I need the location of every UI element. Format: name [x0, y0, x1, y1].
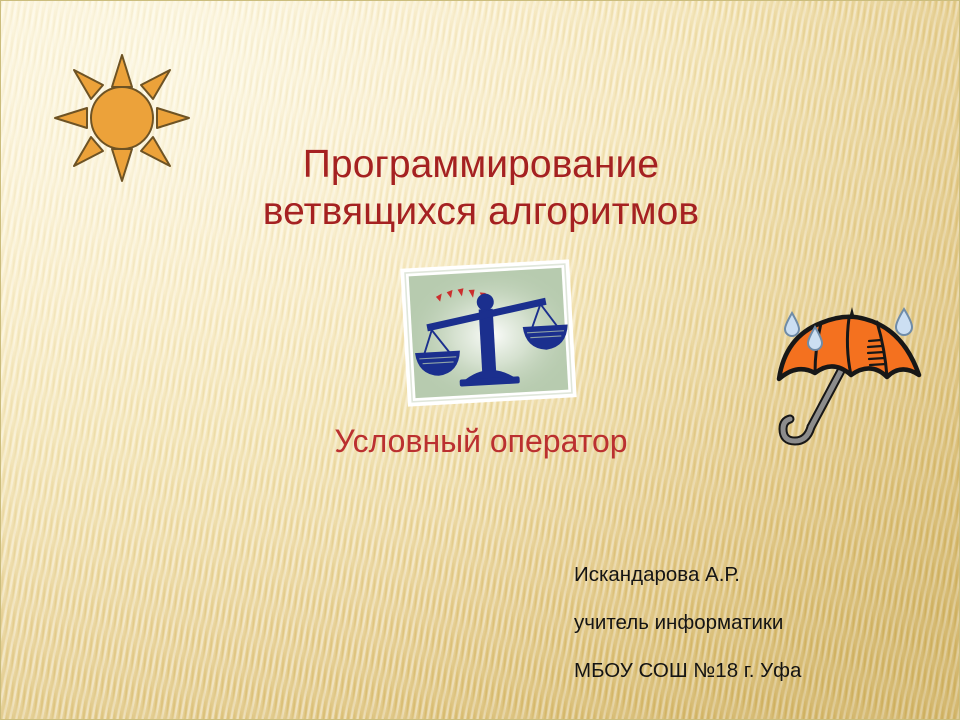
- author-name: Искандарова А.Р.: [574, 551, 801, 599]
- author-role: учитель информатики: [574, 599, 801, 647]
- slide-subtitle: Условный оператор: [161, 421, 801, 461]
- author-credits-block: Искандарова А.Р. учитель информатики МБО…: [574, 551, 801, 695]
- presentation-slide: Программирование ветвящихся алгоритмов У…: [0, 0, 960, 720]
- balance-scales-image: [401, 259, 576, 407]
- slide-title: Программирование ветвящихся алгоритмов: [151, 141, 811, 235]
- author-institution: МБОУ СОШ №18 г. Уфа: [574, 647, 801, 695]
